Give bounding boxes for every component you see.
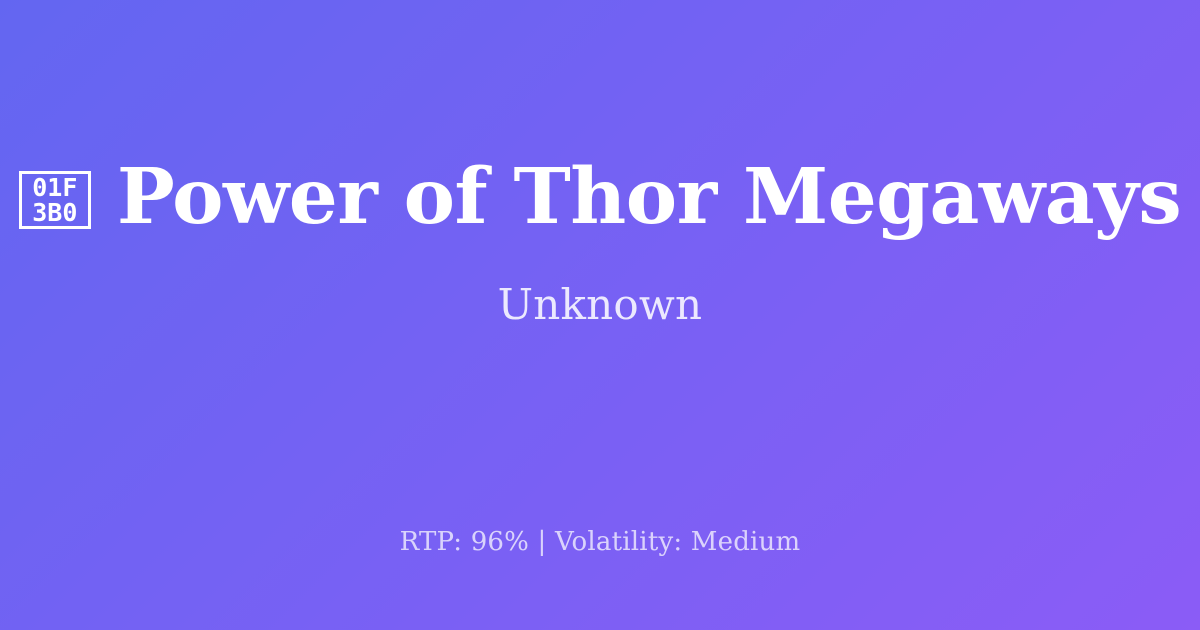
game-stats-line: RTP: 96% | Volatility: Medium [0,527,1200,558]
tofu-codepoint-bottom: 3B0 [32,200,77,225]
provider-subtitle: Unknown [498,282,703,328]
hero-block: 01F 3B0 Power of Thor Megaways Unknown [0,0,1200,486]
slot-machine-icon: 01F 3B0 [19,171,91,229]
title-row: 01F 3B0 Power of Thor Megaways [20,157,1180,238]
og-share-card: 01F 3B0 Power of Thor Megaways Unknown R… [0,0,1200,630]
tofu-codepoint-top: 01F [32,175,77,200]
page-title: Power of Thor Megaways [117,157,1181,238]
